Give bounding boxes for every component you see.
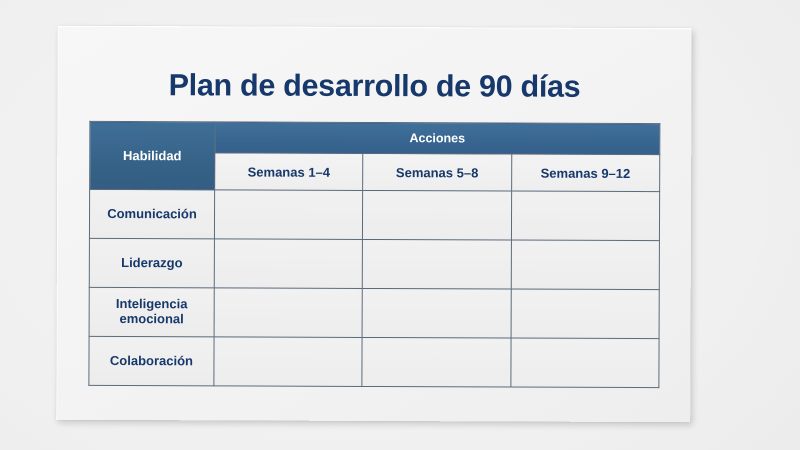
slide-canvas: Plan de desarrollo de 90 días Habilidad … [0,0,800,450]
table-row: Inteligencia emocional [89,287,659,338]
action-cell-colaboracion-weeks-1-4[interactable] [214,337,362,387]
table-header-row-group: Habilidad Acciones [90,121,660,154]
table-body: Comunicación Liderazgo Inteligencia emoc… [89,189,660,387]
action-cell-liderazgo-weeks-5-8[interactable] [363,239,511,289]
column-header-weeks-1-4: Semanas 1–4 [215,153,363,191]
action-cell-comunicacion-weeks-5-8[interactable] [363,190,511,240]
column-header-weeks-5-8: Semanas 5–8 [363,153,511,191]
row-label-comunicacion: Comunicación [89,189,214,238]
page-title: Plan de desarrollo de 90 días [57,68,691,105]
slide-card: Plan de desarrollo de 90 días Habilidad … [56,26,692,422]
column-header-actions-group: Acciones [215,122,660,155]
table-head: Habilidad Acciones Semanas 1–4 Semanas 5… [90,121,660,191]
action-cell-inteligencia-emocional-weeks-9-12[interactable] [511,289,659,339]
action-cell-inteligencia-emocional-weeks-5-8[interactable] [362,288,510,338]
action-cell-comunicacion-weeks-1-4[interactable] [214,190,362,240]
action-cell-comunicacion-weeks-9-12[interactable] [511,191,659,241]
action-cell-inteligencia-emocional-weeks-1-4[interactable] [214,288,362,338]
development-plan-table: Habilidad Acciones Semanas 1–4 Semanas 5… [88,121,660,388]
row-label-inteligencia-emocional: Inteligencia emocional [89,287,214,336]
column-header-skill: Habilidad [90,121,215,189]
row-label-liderazgo: Liderazgo [89,238,214,287]
row-label-line-1: Inteligencia [116,296,188,311]
action-cell-liderazgo-weeks-1-4[interactable] [214,239,362,289]
action-cell-colaboracion-weeks-5-8[interactable] [362,337,510,387]
table-row: Colaboración [89,336,659,387]
row-label-colaboracion: Colaboración [89,336,214,385]
column-header-weeks-9-12: Semanas 9–12 [511,154,659,192]
table-row: Liderazgo [89,238,659,289]
action-cell-colaboracion-weeks-9-12[interactable] [510,338,658,388]
row-label-line-2: emocional [119,311,183,326]
action-cell-liderazgo-weeks-9-12[interactable] [511,240,659,290]
table-row: Comunicación [89,189,659,240]
